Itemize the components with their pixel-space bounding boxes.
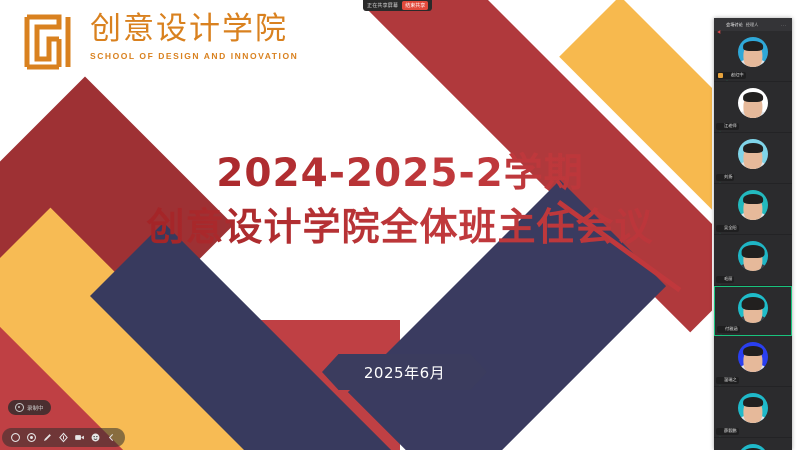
- participant-tile[interactable]: 温瑞之: [714, 336, 792, 387]
- emoji-icon[interactable]: [90, 432, 101, 443]
- participant-tile[interactable]: 付雅涵: [714, 286, 792, 336]
- camera-icon[interactable]: [26, 432, 37, 443]
- microphone-icon: [718, 175, 722, 181]
- microphone-icon: [718, 378, 722, 384]
- panel-tab-discussion[interactable]: 会场讨论: [726, 22, 743, 28]
- participant-name: 毛丽: [724, 277, 732, 281]
- speaker-icon: [717, 22, 723, 28]
- participant-name: 吴全阳: [724, 226, 737, 230]
- participant-name-row: 毛丽: [716, 276, 734, 283]
- share-status-text: 正在共享屏幕: [367, 2, 398, 9]
- participant-name-row: 薛毅鹏: [716, 428, 739, 435]
- cursor-icon[interactable]: [58, 432, 69, 443]
- participant-name: 江老师: [724, 124, 737, 128]
- participant-tile[interactable]: 赵红中: [714, 31, 792, 82]
- participant-name-row: 赵红中: [716, 72, 746, 79]
- participant-name-row: 吴全阳: [716, 225, 739, 232]
- video-icon[interactable]: [74, 432, 85, 443]
- slide-date-text: 2025年6月: [364, 362, 445, 383]
- participant-name-row: 刘扬: [716, 174, 734, 181]
- chevron-left-icon[interactable]: [106, 432, 117, 443]
- avatar: [738, 139, 768, 169]
- avatar: [738, 342, 768, 372]
- participant-name: 薛毅鹏: [724, 429, 737, 433]
- screen-share-bar[interactable]: 正在共享屏幕 结束共享: [363, 0, 432, 11]
- avatar: [738, 190, 768, 220]
- participant-name: 赵红中: [731, 73, 744, 77]
- logo-english-name: SCHOOL OF DESIGN AND INNOVATION: [90, 51, 298, 61]
- recording-badge[interactable]: 录制中: [8, 400, 51, 415]
- panel-more-icon[interactable]: ...: [780, 22, 789, 28]
- microphone-icon: [719, 327, 723, 333]
- participant-name: 温瑞之: [724, 378, 737, 382]
- participant-tile[interactable]: 吴全阳: [714, 184, 792, 235]
- microphone-icon: [718, 124, 722, 130]
- slide-share-screen: 创意设计学院 SCHOOL OF DESIGN AND INNOVATION 2…: [0, 0, 800, 450]
- microphone-icon: [718, 277, 722, 283]
- pen-icon[interactable]: [42, 432, 53, 443]
- avatar: [738, 88, 768, 118]
- microphone-icon: [718, 226, 722, 232]
- participant-tile[interactable]: 薛毅鹏: [714, 387, 792, 438]
- participants-panel[interactable]: 会场讨论 经理人 ... 赵红中江老师刘扬吴全阳毛丽付雅涵温瑞之薛毅鹏林璐陈明: [714, 18, 792, 450]
- participant-name: 刘扬: [724, 175, 732, 179]
- microphone-icon: [725, 73, 729, 79]
- zh-monogram-icon: [22, 14, 78, 70]
- participant-name-row: 付雅涵: [717, 326, 740, 333]
- participant-tile[interactable]: 江老师: [714, 82, 792, 133]
- recording-label: 录制中: [27, 404, 44, 412]
- host-badge: [718, 73, 723, 78]
- participant-name: 付雅涵: [725, 327, 738, 331]
- avatar: [738, 393, 768, 423]
- avatar: [738, 241, 768, 271]
- meeting-floating-toolbar[interactable]: [2, 428, 125, 447]
- panel-tab-manager[interactable]: 经理人: [746, 22, 759, 28]
- microphone-icon: [718, 429, 722, 435]
- logo-wordmark: 创意设计学院 SCHOOL OF DESIGN AND INNOVATION: [90, 14, 298, 61]
- participant-tile[interactable]: 林璐: [714, 438, 792, 450]
- institution-logo: 创意设计学院 SCHOOL OF DESIGN AND INNOVATION: [22, 14, 298, 70]
- slide-date-banner: 2025年6月: [322, 354, 487, 390]
- microphone-icon[interactable]: [10, 432, 21, 443]
- avatar: [738, 444, 768, 450]
- logo-chinese-name: 创意设计学院: [90, 14, 298, 45]
- avatar: [738, 37, 768, 67]
- participant-tile-list[interactable]: 赵红中江老师刘扬吴全阳毛丽付雅涵温瑞之薛毅鹏林璐陈明: [714, 31, 792, 450]
- avatar: [738, 293, 768, 323]
- participant-tile[interactable]: 刘扬: [714, 133, 792, 184]
- participant-name-row: 温瑞之: [716, 377, 739, 384]
- stop-share-button[interactable]: 结束共享: [402, 1, 428, 10]
- record-icon: [15, 403, 24, 412]
- participant-name-row: 江老师: [716, 123, 739, 130]
- participant-tile[interactable]: 毛丽: [714, 235, 792, 286]
- participants-panel-header[interactable]: 会场讨论 经理人 ...: [714, 18, 792, 31]
